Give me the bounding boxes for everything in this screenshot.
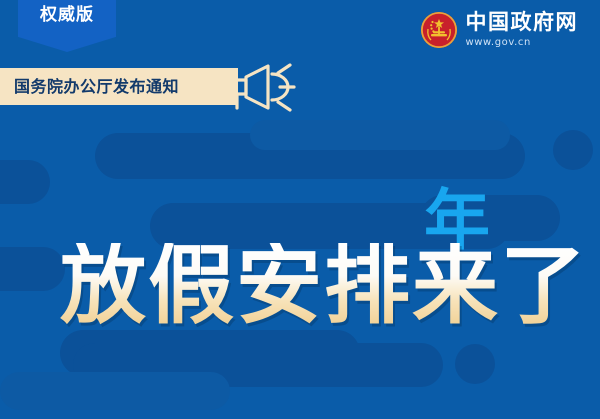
notice-banner: 国务院办公厅发布通知	[0, 68, 238, 105]
poster-canvas: 权威版 国务院办公厅发布通知	[0, 0, 600, 419]
bg-pill	[250, 120, 510, 150]
gov-logo-text: 中国政府网 www.gov.cn	[466, 12, 579, 48]
bg-circle	[553, 130, 593, 170]
authority-ribbon-label: 权威版	[40, 7, 94, 24]
gov-logo[interactable]: 中国政府网 www.gov.cn	[421, 12, 579, 48]
gov-site-name: 中国政府网	[466, 12, 579, 33]
gov-site-url: www.gov.cn	[466, 38, 579, 48]
page-title: 放假安排来了	[60, 243, 588, 329]
bg-pill	[0, 247, 65, 291]
megaphone-icon	[228, 58, 300, 116]
background-decoration	[0, 0, 600, 419]
bg-pill	[0, 160, 50, 204]
china-national-emblem-icon	[421, 12, 457, 48]
bg-circle	[455, 344, 495, 384]
notice-banner-text: 国务院办公厅发布通知	[14, 79, 179, 95]
bg-pill	[0, 372, 230, 410]
